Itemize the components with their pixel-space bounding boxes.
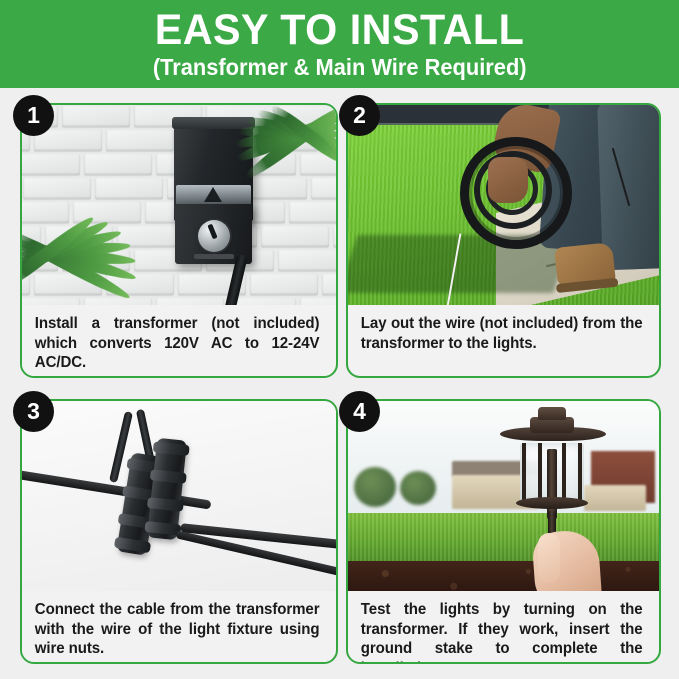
palm-frond-bottom-left: [22, 225, 156, 305]
step-2-caption: Lay out the wire (not included) from the…: [348, 305, 654, 359]
brick: [278, 250, 336, 271]
step-4-caption: Test the lights by turning on the transf…: [348, 591, 654, 664]
shade-bar: [578, 443, 582, 503]
step-badge-2: 2: [339, 95, 380, 136]
brick: [62, 106, 130, 127]
step-card-4: Test the lights by turning on the transf…: [346, 399, 661, 664]
person-boot: [554, 242, 616, 288]
header-banner: EASY TO INSTALL (Transformer & Main Wire…: [0, 0, 679, 88]
step-3-photo: [22, 401, 336, 591]
step-card-2: Lay out the wire (not included) from the…: [346, 103, 661, 378]
step-badge-1: 1: [13, 95, 54, 136]
connector-ring: [147, 497, 184, 512]
brick: [156, 298, 224, 305]
palm-frond-top-right: [222, 105, 336, 196]
lawn: [348, 513, 659, 565]
background-house-right: [584, 485, 646, 511]
brick: [289, 202, 336, 223]
pathway-light-scene: [348, 401, 659, 591]
transformer-outlet-slot: [194, 254, 234, 259]
brick: [23, 178, 91, 199]
page-subtitle: (Transformer & Main Wire Required): [153, 54, 527, 80]
brick: [228, 298, 296, 305]
shade-bottom-rim: [516, 497, 588, 509]
step-2-photo: [348, 105, 659, 305]
shade-bar: [562, 443, 566, 503]
cable-connector-scene: [22, 401, 336, 591]
connector-ring: [150, 469, 187, 484]
infographic-page: EASY TO INSTALL (Transformer & Main Wire…: [0, 0, 679, 679]
steps-grid: Install a transformer (not included) whi…: [0, 88, 679, 679]
step-card-3: Connect the cable from the transformer w…: [20, 399, 338, 664]
background-tree: [400, 471, 436, 505]
step-1-photo: [22, 105, 336, 305]
soil-cross-section: [348, 561, 659, 591]
step-3-caption: Connect the cable from the transformer w…: [22, 591, 331, 664]
connector-ring: [114, 537, 151, 553]
connector-ring: [153, 441, 190, 456]
brick: [250, 274, 318, 295]
light-finial: [538, 407, 566, 420]
step-4-photo: [348, 401, 659, 591]
step-1-caption: Install a transformer (not included) whi…: [22, 305, 331, 378]
background-tree: [354, 467, 396, 507]
step-badge-3: 3: [13, 391, 54, 432]
step-card-1: Install a transformer (not included) whi…: [20, 103, 338, 378]
brick: [22, 154, 80, 175]
brick: [261, 226, 329, 247]
shade-bar: [538, 443, 542, 503]
step-badge-4: 4: [339, 391, 380, 432]
brick: [34, 130, 102, 151]
transformer-dial-icon: [198, 220, 230, 252]
shade-bar: [522, 443, 526, 503]
brick: [95, 178, 163, 199]
brick: [106, 130, 174, 151]
person-hand: [488, 157, 528, 203]
hand-fingers: [538, 533, 560, 583]
brick: [84, 154, 152, 175]
brick: [322, 274, 336, 295]
brick: [300, 298, 336, 305]
lawn-walkway-scene: [348, 105, 659, 305]
brick: [22, 202, 69, 223]
brick: [333, 226, 336, 247]
page-title: EASY TO INSTALL: [155, 8, 525, 53]
